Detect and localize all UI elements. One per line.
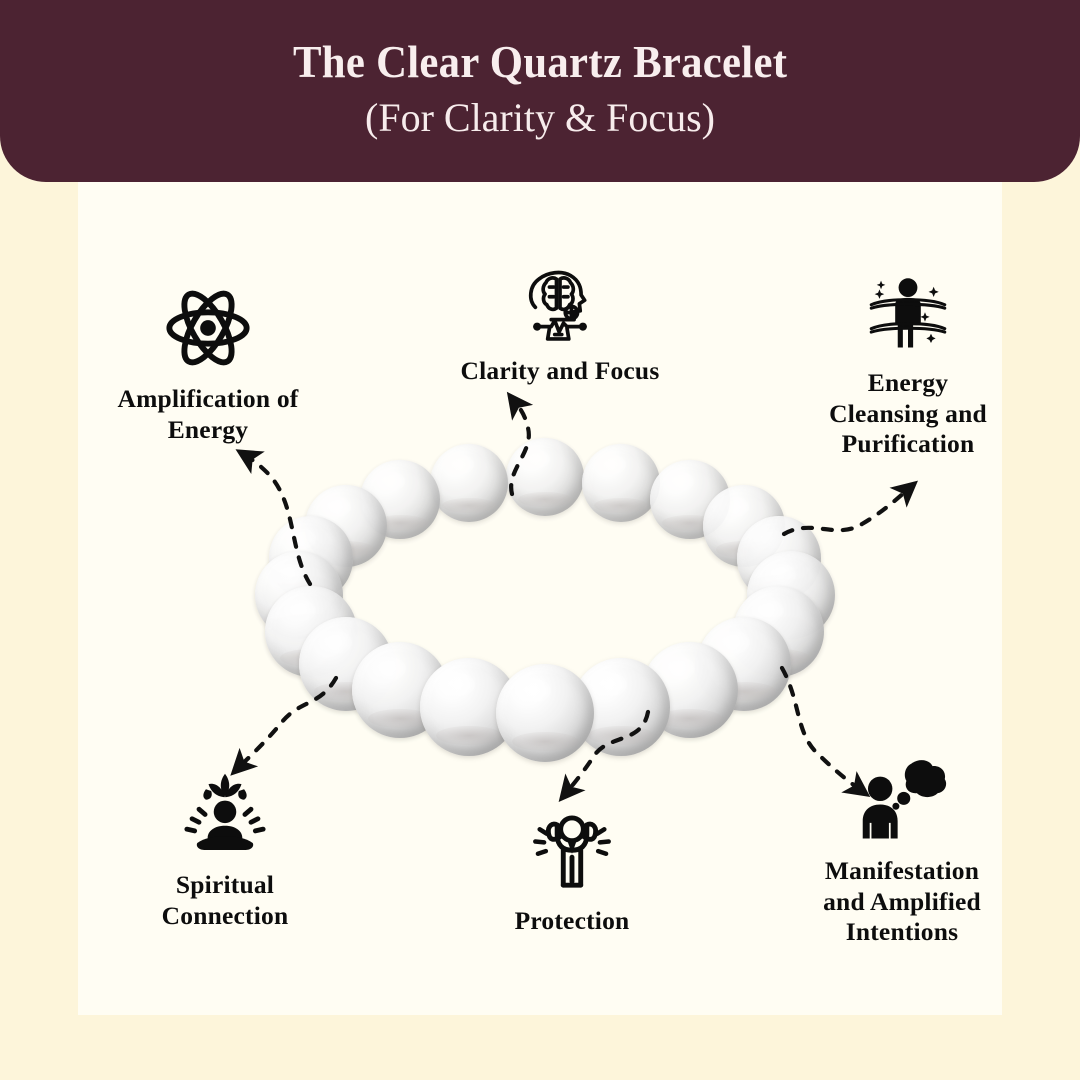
page-subtitle: (For Clarity & Focus)	[365, 96, 715, 140]
bracelet-bead	[430, 444, 508, 522]
energy-cleanse-figure-icon	[861, 272, 955, 358]
feature-label-clarity: Clarity and Focus	[461, 356, 660, 387]
feature-label-cleansing: Energy Cleansing and Purification	[829, 368, 987, 460]
raised-arms-figure-icon	[524, 808, 620, 896]
feature-manifestation: Manifestation and Amplified Intentions	[772, 756, 1032, 948]
feature-cleansing: Energy Cleansing and Purification	[778, 272, 1038, 460]
header-banner: The Clear Quartz Bracelet (For Clarity &…	[0, 0, 1080, 182]
bracelet-product-image	[255, 445, 835, 745]
bracelet-bead	[506, 438, 584, 516]
infographic-canvas: The Clear Quartz Bracelet (For Clarity &…	[0, 0, 1080, 1080]
feature-label-amplification: Amplification of Energy	[118, 384, 299, 445]
feature-label-spiritual: Spiritual Connection	[162, 870, 289, 931]
feature-clarity: Clarity and Focus	[430, 258, 690, 387]
feature-label-manifestation: Manifestation and Amplified Intentions	[823, 856, 981, 948]
thought-bubble-person-icon	[854, 756, 950, 846]
atom-icon	[162, 282, 254, 374]
page-title: The Clear Quartz Bracelet	[293, 38, 787, 87]
feature-label-protection: Protection	[515, 906, 630, 937]
brain-head-icon	[516, 258, 604, 346]
feature-protection: Protection	[442, 808, 702, 937]
meditating-lotus-icon	[173, 768, 277, 860]
feature-spiritual: Spiritual Connection	[95, 768, 355, 931]
bracelet-bead	[496, 664, 594, 762]
bracelet-bead	[582, 444, 660, 522]
feature-amplification: Amplification of Energy	[78, 282, 338, 445]
